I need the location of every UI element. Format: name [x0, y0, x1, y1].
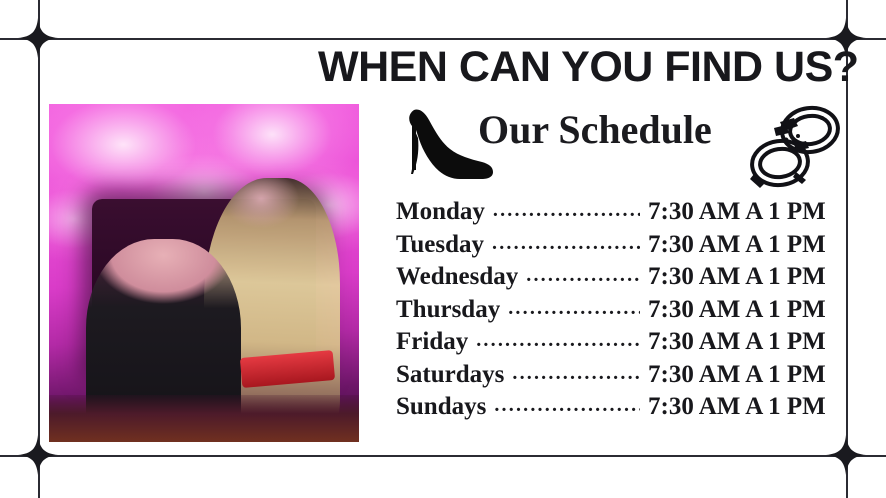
schedule-day-label: Sundays [396, 393, 486, 421]
page-title: WHEN CAN YOU FIND US? [318, 43, 859, 91]
schedule-day-label: Monday [396, 198, 485, 226]
schedule-row-monday: Monday .................................… [396, 198, 834, 231]
schedule-row-thursday: Thursday ...............................… [396, 296, 834, 329]
schedule-dot-leader: ........................................… [492, 232, 640, 255]
schedule-row-sundays: Sundays ................................… [396, 393, 834, 426]
schedule-time-value: 7:30 AM A 1 PM [648, 263, 834, 291]
schedule-day-label: Thursday [396, 296, 500, 324]
promo-photo [49, 104, 359, 442]
frame-line-top [0, 38, 886, 40]
schedule-day-label: Saturdays [396, 361, 504, 389]
schedule-dot-leader: ........................................… [476, 329, 640, 352]
subtitle: Our Schedule [478, 106, 712, 154]
schedule-time-value: 7:30 AM A 1 PM [648, 198, 834, 226]
sparkle-icon-bottom-right [826, 435, 866, 475]
schedule-day-label: Wednesday [396, 263, 518, 291]
schedule-list: Monday .................................… [396, 198, 834, 426]
handcuffs-icon [736, 100, 848, 192]
schedule-day-label: Friday [396, 328, 468, 356]
subheading-row: Our Schedule [396, 100, 851, 192]
schedule-dot-leader: ........................................… [493, 199, 640, 222]
schedule-time-value: 7:30 AM A 1 PM [648, 361, 834, 389]
sparkle-icon-top-left [18, 18, 58, 58]
photo-foreground [49, 395, 359, 442]
schedule-row-saturdays: Saturdays ..............................… [396, 361, 834, 394]
schedule-dot-leader: ........................................… [512, 362, 640, 385]
schedule-day-label: Tuesday [396, 231, 484, 259]
schedule-dot-leader: ........................................… [526, 264, 640, 287]
schedule-poster: WHEN CAN YOU FIND US? Our Schedule [0, 0, 886, 498]
schedule-time-value: 7:30 AM A 1 PM [648, 328, 834, 356]
schedule-row-friday: Friday .................................… [396, 328, 834, 361]
schedule-row-tuesday: Tuesday ................................… [396, 231, 834, 264]
schedule-time-value: 7:30 AM A 1 PM [648, 393, 834, 421]
schedule-dot-leader: ........................................… [508, 297, 640, 320]
schedule-time-value: 7:30 AM A 1 PM [648, 231, 834, 259]
frame-line-bottom [0, 455, 886, 457]
schedule-time-value: 7:30 AM A 1 PM [648, 296, 834, 324]
frame-line-left [38, 0, 40, 498]
schedule-row-wednesday: Wednesday ..............................… [396, 263, 834, 296]
schedule-dot-leader: ........................................… [494, 394, 640, 417]
